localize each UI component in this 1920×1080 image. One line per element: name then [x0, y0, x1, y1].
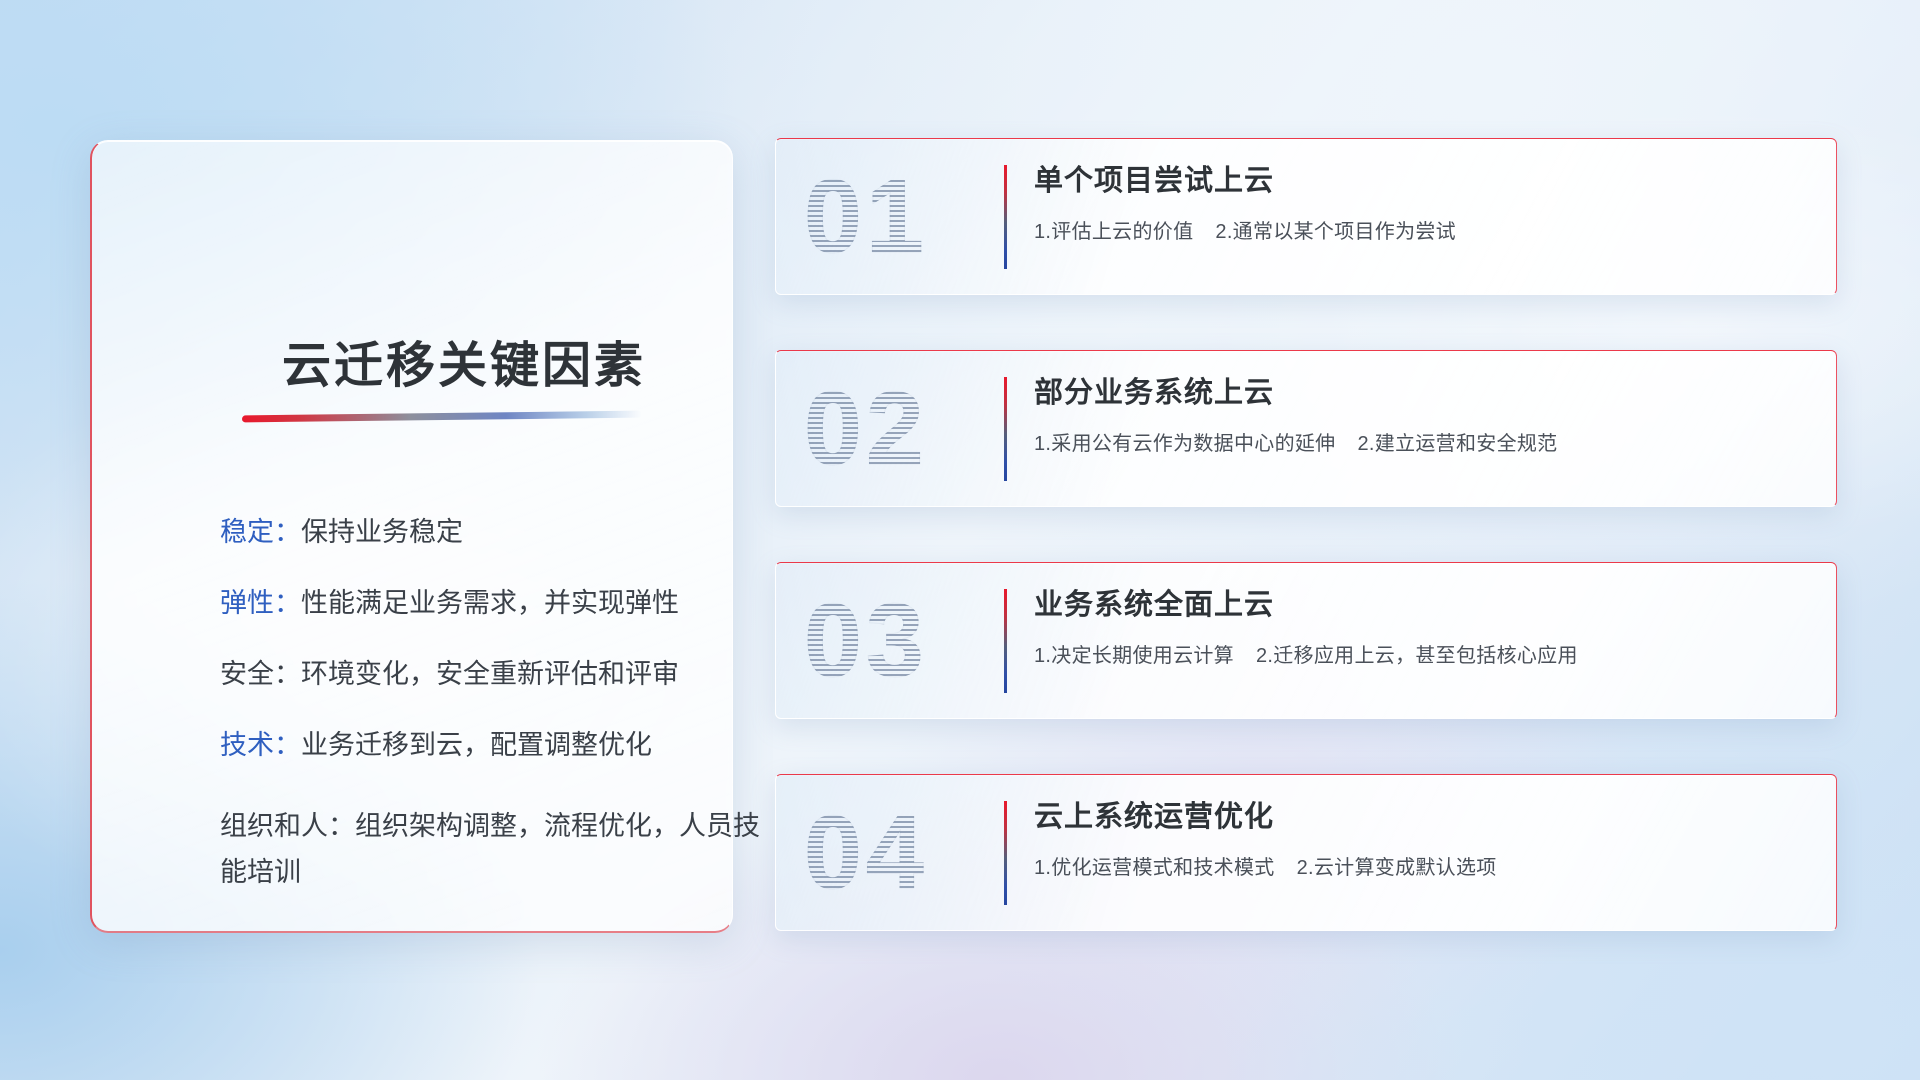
step-description-item-1: 1.决定长期使用云计算: [1034, 645, 1234, 667]
step-description-item-2: 2.建立运营和安全规范: [1357, 433, 1557, 455]
step-content: 云上系统运营优化 1.优化运营模式和技术模式2.云计算变成默认选项: [1034, 799, 1806, 880]
step-description-item-1: 1.评估上云的价值: [1034, 221, 1193, 243]
step-description-item-2: 2.通常以某个项目作为尝试: [1215, 221, 1456, 243]
list-item: 稳定：保持业务稳定: [220, 519, 780, 546]
step-description-item-2: 2.云计算变成默认选项: [1297, 857, 1497, 879]
factor-text: 性能满足业务需求，并实现弹性: [301, 588, 679, 618]
migration-steps-list: 01 单个项目尝试上云 1.评估上云的价值2.通常以某个项目作为尝试 02 部分…: [775, 138, 1837, 986]
factor-text: 保持业务稳定: [301, 517, 463, 547]
factor-label: 技术：: [220, 730, 301, 760]
factor-text: 环境变化，安全重新评估和评审: [301, 659, 679, 689]
key-factors-card: 云迁移关键因素 稳定：保持业务稳定 弹性：性能满足业务需求，并实现弹性 安全：环…: [90, 140, 733, 933]
title-underline-gradient: [242, 411, 642, 423]
step-title: 云上系统运营优化: [1034, 799, 1806, 835]
step-card-04[interactable]: 04 云上系统运营优化 1.优化运营模式和技术模式2.云计算变成默认选项: [775, 774, 1837, 931]
step-title: 业务系统全面上云: [1034, 587, 1806, 623]
step-card-02[interactable]: 02 部分业务系统上云 1.采用公有云作为数据中心的延伸2.建立运营和安全规范: [775, 350, 1837, 507]
step-card-03[interactable]: 03 业务系统全面上云 1.决定长期使用云计算2.迁移应用上云，甚至包括核心应用: [775, 562, 1837, 719]
step-divider-bar: [1004, 589, 1007, 693]
step-content: 业务系统全面上云 1.决定长期使用云计算2.迁移应用上云，甚至包括核心应用: [1034, 587, 1806, 668]
factor-text: 业务迁移到云，配置调整优化: [301, 730, 652, 760]
step-content: 单个项目尝试上云 1.评估上云的价值2.通常以某个项目作为尝试: [1034, 163, 1806, 244]
list-item: 技术：业务迁移到云，配置调整优化: [220, 732, 780, 759]
factor-label: 安全：: [220, 659, 301, 689]
step-description: 1.评估上云的价值2.通常以某个项目作为尝试: [1034, 215, 1806, 244]
step-divider-bar: [1004, 165, 1007, 269]
step-divider-bar: [1004, 801, 1007, 905]
step-number-watermark: 03: [804, 589, 928, 693]
step-number-watermark: 01: [804, 165, 928, 269]
factor-label: 弹性：: [220, 588, 301, 618]
list-item: 安全：环境变化，安全重新评估和评审: [220, 661, 780, 688]
step-card-01[interactable]: 01 单个项目尝试上云 1.评估上云的价值2.通常以某个项目作为尝试: [775, 138, 1837, 295]
page-title: 云迁移关键因素: [282, 326, 646, 397]
step-description-item-1: 1.采用公有云作为数据中心的延伸: [1034, 433, 1335, 455]
step-content: 部分业务系统上云 1.采用公有云作为数据中心的延伸2.建立运营和安全规范: [1034, 375, 1806, 456]
step-description: 1.优化运营模式和技术模式2.云计算变成默认选项: [1034, 851, 1806, 880]
step-divider-bar: [1004, 377, 1007, 481]
factor-label: 稳定：: [220, 517, 301, 547]
list-item: 组织和人：组织架构调整，流程优化，人员技能培训: [220, 803, 780, 896]
step-title: 部分业务系统上云: [1034, 375, 1806, 411]
step-description-item-1: 1.优化运营模式和技术模式: [1034, 857, 1275, 879]
key-factors-list: 稳定：保持业务稳定 弹性：性能满足业务需求，并实现弹性 安全：环境变化，安全重新…: [220, 519, 780, 940]
step-number-watermark: 04: [804, 801, 928, 905]
factor-label: 组织和人：: [220, 811, 355, 841]
step-description: 1.决定长期使用云计算2.迁移应用上云，甚至包括核心应用: [1034, 639, 1806, 668]
step-title: 单个项目尝试上云: [1034, 163, 1806, 199]
step-description-item-2: 2.迁移应用上云，甚至包括核心应用: [1256, 645, 1578, 667]
step-number-watermark: 02: [804, 377, 928, 481]
list-item: 弹性：性能满足业务需求，并实现弹性: [220, 590, 780, 617]
step-description: 1.采用公有云作为数据中心的延伸2.建立运营和安全规范: [1034, 427, 1806, 456]
